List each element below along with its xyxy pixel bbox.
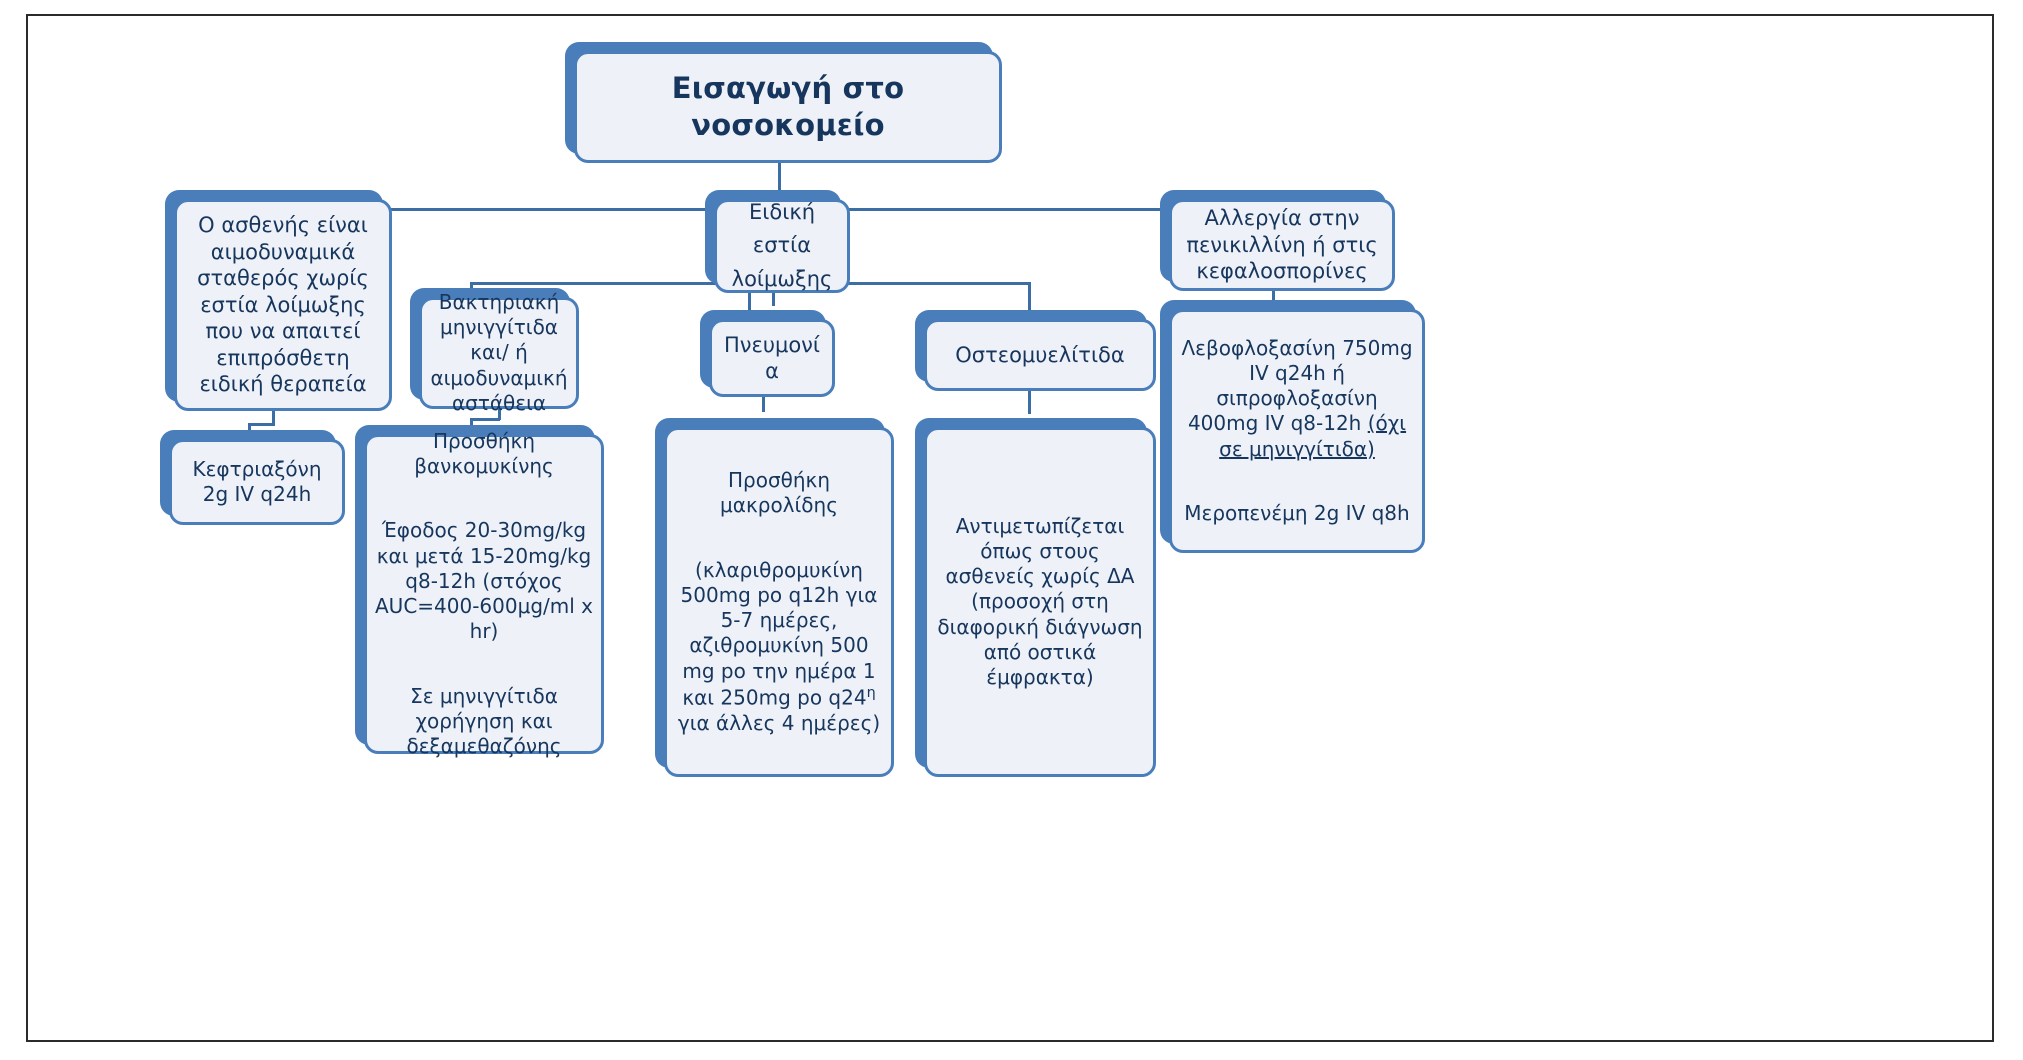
node-face: Αλλεργία στην πενικιλλίνη ή στις κεφαλοσ… [1169,199,1395,291]
node-label: Οστεομυελίτιδα [927,342,1153,368]
meropenem-dosing: Μεροπενέμη 2g IV q8h [1180,501,1414,526]
node-face: Ο ασθενής είναι αιμοδυναμικά σταθερός χω… [174,199,392,411]
node-osteomyelitis-treatment[interactable]: Αντιμετωπίζεται όπως στους ασθενείς χωρί… [915,418,1147,768]
node-label: Ειδική εστία λοίμωξης [717,196,847,297]
node-levofloxacin-meropenem[interactable]: Λεβοφλοξασίνη 750mg IV q24h ή σιπροφλοξα… [1160,300,1416,544]
macrolide-dosing-part2: για άλλες 4 ημέρες) [678,711,880,735]
vancomycin-note: Σε μηνιγγίτιδα χορήγηση και δεξαμεθαζόνη… [375,684,593,760]
node-label: Εισαγωγή στο νοσοκομείο [577,70,999,143]
node-label: Πνευμονί α [712,332,832,385]
node-face: Προσθήκη μακρολίδης (κλαριθρομυκίνη 500m… [664,427,894,777]
macrolide-dosing-part1: (κλαριθρομυκίνη 500mg po q12h για 5-7 ημ… [681,558,878,710]
node-osteomyelitis[interactable]: Οστεομυελίτιδα [915,310,1147,382]
macrolide-title: Προσθήκη μακρολίδης [675,468,883,518]
node-label: Λεβοφλοξασίνη 750mg IV q24h ή σιπροφλοξα… [1172,311,1422,552]
vancomycin-dosing: Έφοδος 20-30mg/kg και μετά 15-20mg/kg q8… [375,518,593,644]
node-ceftriaxone[interactable]: Κεφτριαξόνη 2g IV q24h [160,430,336,516]
node-face: Κεφτριαξόνη 2g IV q24h [169,439,345,525]
flowchart-canvas: Εισαγωγή στο νοσοκομείο Ο ασθενής είναι … [0,0,2023,1060]
node-special-infection-focus[interactable]: Ειδική εστία λοίμωξης [705,190,841,284]
node-face: Λεβοφλοξασίνη 750mg IV q24h ή σιπροφλοξα… [1169,309,1425,553]
node-label: Προσθήκη βανκομυκίνης Έφοδος 20-30mg/kg … [367,404,601,785]
vancomycin-title: Προσθήκη βανκομυκίνης [375,429,593,479]
node-hemodynamically-stable[interactable]: Ο ασθενής είναι αιμοδυναμικά σταθερός χω… [165,190,383,402]
node-add-macrolide[interactable]: Προσθήκη μακρολίδης (κλαριθρομυκίνη 500m… [655,418,885,768]
macrolide-dosing: (κλαριθρομυκίνη 500mg po q12h για 5-7 ημ… [675,558,883,736]
node-face: Αντιμετωπίζεται όπως στους ασθενείς χωρί… [924,427,1156,777]
node-label: Κεφτριαξόνη 2g IV q24h [172,457,342,507]
node-add-vancomycin[interactable]: Προσθήκη βανκομυκίνης Έφοδος 20-30mg/kg … [355,425,595,745]
node-face: Πνευμονί α [709,319,835,397]
macrolide-ordinal-suffix: η [867,685,876,701]
node-pneumonia[interactable]: Πνευμονί α [700,310,826,388]
node-penicillin-allergy[interactable]: Αλλεργία στην πενικιλλίνη ή στις κεφαλοσ… [1160,190,1386,282]
node-face: Προσθήκη βανκομυκίνης Έφοδος 20-30mg/kg … [364,434,604,754]
node-label: Βακτηριακή μηνιγγίτιδα και/ ή αιμοδυναμι… [422,290,576,416]
node-face: Βακτηριακή μηνιγγίτιδα και/ ή αιμοδυναμι… [419,297,579,409]
node-admission[interactable]: Εισαγωγή στο νοσοκομείο [565,42,993,154]
node-face: Ειδική εστία λοίμωξης [714,199,850,293]
node-label: Αλλεργία στην πενικιλλίνη ή στις κεφαλοσ… [1172,205,1392,284]
node-face: Οστεομυελίτιδα [924,319,1156,391]
node-label: Αντιμετωπίζεται όπως στους ασθενείς χωρί… [927,514,1153,690]
node-bacterial-meningitis[interactable]: Βακτηριακή μηνιγγίτιδα και/ ή αιμοδυναμι… [410,288,570,400]
levofloxacin-dosing: Λεβοφλοξασίνη 750mg IV q24h ή σιπροφλοξα… [1180,336,1414,462]
node-face: Εισαγωγή στο νοσοκομείο [574,51,1002,163]
node-label: Ο ασθενής είναι αιμοδυναμικά σταθερός χω… [177,212,389,397]
connector-stable-jog [248,423,275,426]
node-label: Προσθήκη μακρολίδης (κλαριθρομυκίνη 500m… [667,443,891,761]
